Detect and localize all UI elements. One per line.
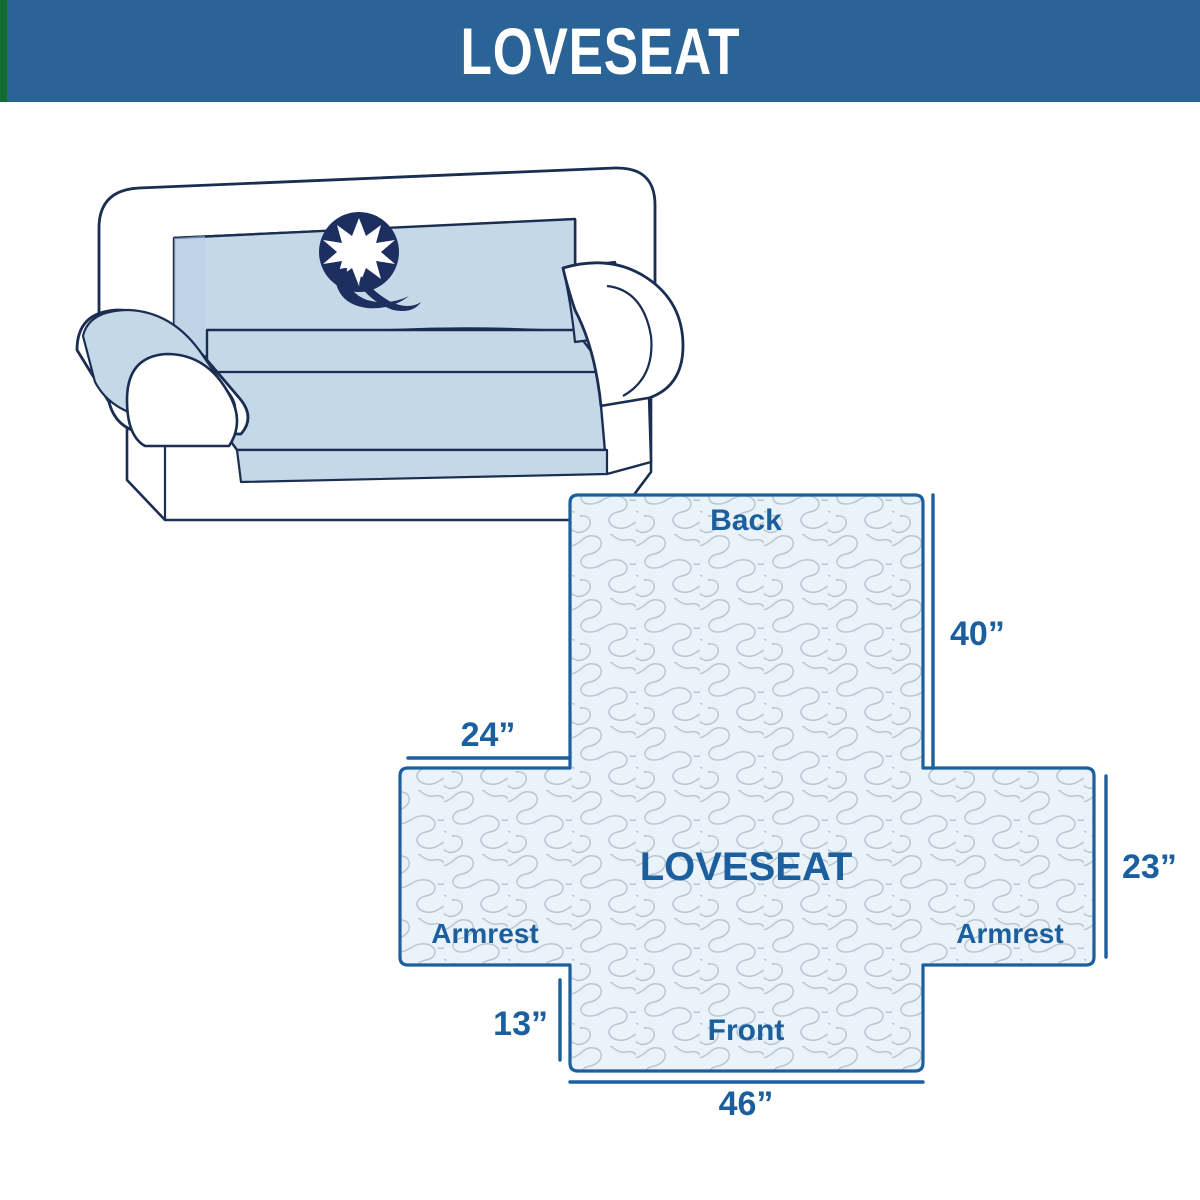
dimension-front-drop: 13” bbox=[493, 980, 560, 1060]
panel-label-armrest-left: Armrest bbox=[431, 918, 538, 949]
panel-label-back: Back bbox=[710, 504, 782, 537]
header-accent-strip bbox=[0, 0, 7, 102]
dimension-value-40: 40” bbox=[950, 615, 1005, 653]
dimension-back-width: 24” bbox=[408, 716, 570, 758]
dimension-value-24: 24” bbox=[461, 716, 516, 754]
header-banner: LOVESEAT bbox=[0, 0, 1200, 102]
page-title: LOVESEAT bbox=[460, 18, 740, 84]
panel-label-center: LOVESEAT bbox=[640, 845, 853, 889]
dimension-value-13: 13” bbox=[493, 1005, 548, 1043]
slipcover-seat-panel bbox=[207, 330, 607, 450]
dimension-armrest-depth: 23” bbox=[1106, 776, 1177, 957]
dimension-back-height: 40” bbox=[933, 495, 1005, 768]
flat-layout-svg: Back LOVESEAT Armrest Armrest Front 40” … bbox=[380, 470, 1180, 1120]
dimension-front-width: 46” bbox=[570, 1082, 923, 1120]
slipcover-flat-shape bbox=[400, 495, 1094, 1071]
dimension-value-23: 23” bbox=[1122, 848, 1177, 886]
dimension-value-46: 46” bbox=[719, 1085, 774, 1120]
panel-label-armrest-right: Armrest bbox=[956, 918, 1063, 949]
product-dimension-diagram-page: LOVESEAT bbox=[0, 0, 1200, 1200]
flat-layout-diagram: Back LOVESEAT Armrest Armrest Front 40” … bbox=[380, 470, 1180, 1120]
panel-label-front: Front bbox=[708, 1014, 785, 1047]
